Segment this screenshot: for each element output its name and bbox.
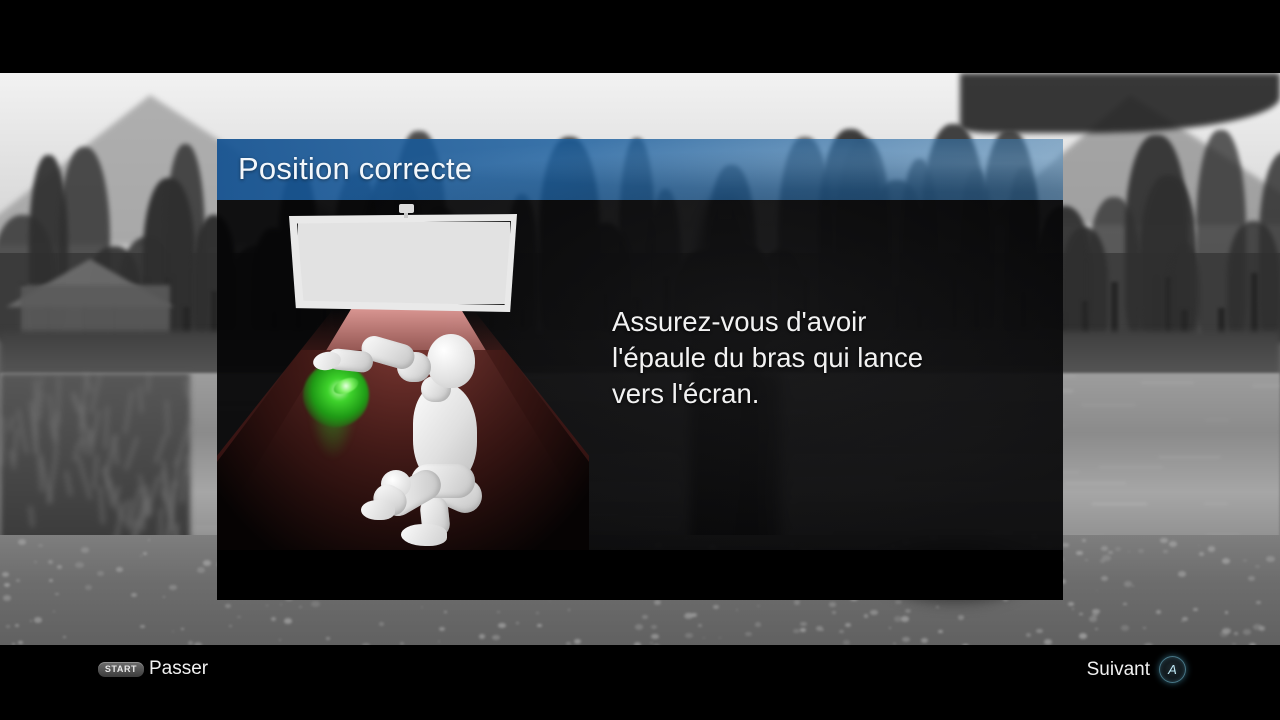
pebble xyxy=(905,609,911,613)
pebble xyxy=(516,622,519,624)
mannequin-figure xyxy=(335,328,495,543)
pebble xyxy=(181,628,183,630)
pebble xyxy=(1225,611,1228,613)
pebble xyxy=(938,630,943,633)
grass-blade xyxy=(124,391,134,434)
pebble xyxy=(1115,547,1121,551)
pebble xyxy=(197,567,205,573)
letterbox-top xyxy=(0,0,1280,73)
pebble xyxy=(1026,633,1031,637)
skip-hint[interactable]: START Passer xyxy=(98,658,208,680)
pebble xyxy=(1193,608,1198,611)
pebble xyxy=(280,604,282,605)
pebble xyxy=(48,560,53,564)
pebble xyxy=(757,605,760,607)
pebble xyxy=(1079,613,1082,615)
grass-blade xyxy=(8,416,15,432)
pebble xyxy=(713,605,719,609)
mannequin-front-foot xyxy=(361,500,395,520)
pebble xyxy=(1143,627,1145,629)
pebble xyxy=(439,627,445,631)
pebble xyxy=(1243,629,1252,635)
pebble xyxy=(492,635,500,640)
pebble xyxy=(379,622,384,626)
mannequin-back-foot xyxy=(401,524,447,546)
pebble xyxy=(1036,629,1043,634)
pebble xyxy=(16,579,21,582)
pebble xyxy=(57,565,62,568)
pebble xyxy=(271,617,276,621)
pebble xyxy=(719,637,722,639)
pebble xyxy=(266,605,268,606)
pebble xyxy=(143,552,146,554)
pebble xyxy=(1156,610,1161,614)
pebble xyxy=(703,637,705,639)
pebble xyxy=(651,634,659,639)
pebble xyxy=(75,562,84,568)
pebble xyxy=(1095,628,1098,630)
grass-blade xyxy=(146,374,151,393)
a-button-icon: A xyxy=(1159,656,1186,683)
pebble xyxy=(901,616,910,622)
water-ripple xyxy=(1141,382,1194,384)
pebble xyxy=(140,555,142,557)
pebble xyxy=(1101,546,1108,551)
kinect-sensor-icon xyxy=(399,204,414,213)
dialog-body: Assurez-vous d'avoir l'épaule du bras qu… xyxy=(217,200,1063,600)
pebble xyxy=(479,634,485,638)
pebble xyxy=(684,613,692,619)
pebble xyxy=(1222,628,1231,634)
footer-hint-bar: START Passer Suivant A xyxy=(0,645,1280,720)
grass-blade xyxy=(185,454,188,474)
pebble xyxy=(829,602,836,607)
pebble xyxy=(34,561,37,563)
pebble xyxy=(497,611,499,613)
pebble xyxy=(148,539,151,541)
pebble xyxy=(889,627,891,629)
pebble xyxy=(1199,552,1204,555)
pebble xyxy=(1243,559,1247,562)
pebble xyxy=(279,639,282,641)
pebble xyxy=(299,606,302,608)
pebble xyxy=(793,629,800,634)
pebble xyxy=(654,600,661,605)
pebble xyxy=(1266,556,1275,562)
next-hint[interactable]: Suivant A xyxy=(1087,656,1186,683)
grass-blade xyxy=(65,471,72,496)
pebble xyxy=(1198,545,1200,547)
pebble xyxy=(1068,602,1073,606)
pebble xyxy=(537,624,541,627)
pebble xyxy=(1222,558,1230,564)
next-label: Suivant xyxy=(1087,659,1150,681)
pebble xyxy=(18,539,26,545)
grass-blade xyxy=(83,438,87,454)
water-ripple xyxy=(1065,482,1126,484)
tree xyxy=(1259,152,1280,343)
pebble xyxy=(832,611,836,614)
pebble xyxy=(685,633,693,638)
pebble xyxy=(642,615,648,620)
pebble xyxy=(1076,551,1082,556)
pebble xyxy=(53,611,55,612)
water-ripple xyxy=(1252,385,1280,387)
pebble xyxy=(1182,617,1188,621)
grass-blade xyxy=(57,377,60,425)
pebble xyxy=(902,637,910,642)
pebble xyxy=(1108,551,1113,554)
grass-blade xyxy=(174,420,191,467)
pebble xyxy=(3,595,11,601)
pebble xyxy=(81,547,89,553)
pebble xyxy=(311,601,319,607)
instruction-line-2: l'épaule du bras qui lance xyxy=(612,340,1032,376)
pebble xyxy=(498,623,506,629)
water-ripple xyxy=(1204,503,1228,505)
pebble xyxy=(1248,576,1255,581)
pebble xyxy=(794,600,801,605)
pebble xyxy=(30,620,33,622)
pebble xyxy=(34,617,42,623)
tv-screen xyxy=(297,221,511,305)
pebble xyxy=(85,585,92,590)
pebble xyxy=(1163,550,1168,554)
instruction-line-1: Assurez-vous d'avoir xyxy=(612,304,1032,340)
mannequin-head xyxy=(427,334,475,388)
pebble xyxy=(140,625,145,628)
pebble xyxy=(438,641,440,642)
pebble xyxy=(936,606,939,608)
pebble xyxy=(237,616,241,619)
pebble xyxy=(745,632,752,637)
pebble xyxy=(1044,639,1052,645)
pebble xyxy=(736,609,738,611)
pebble xyxy=(1096,590,1098,592)
grass-blade xyxy=(77,456,92,500)
tutorial-dialog: Position correcte xyxy=(217,139,1063,600)
pebble xyxy=(845,623,851,627)
pebble xyxy=(1124,581,1132,586)
grass-blade xyxy=(48,452,59,504)
pebble xyxy=(800,622,806,626)
pebble xyxy=(1178,571,1186,577)
pebble xyxy=(1072,608,1074,610)
pebble xyxy=(821,629,824,631)
pebble xyxy=(755,622,761,626)
pebble xyxy=(1121,625,1129,631)
grass-blade xyxy=(166,400,170,436)
grass-blade xyxy=(138,386,143,413)
water-ripple xyxy=(1159,456,1220,458)
pebble xyxy=(1089,616,1097,622)
water-ripple xyxy=(1092,503,1148,505)
page-title: Position correcte xyxy=(238,151,472,187)
pebble xyxy=(1100,559,1105,563)
pebble xyxy=(1101,576,1108,581)
pebble xyxy=(444,611,447,613)
pebble xyxy=(698,624,702,627)
pebble xyxy=(895,600,901,605)
pebble xyxy=(651,625,657,629)
pebble xyxy=(635,624,643,630)
pebble xyxy=(131,593,137,597)
pebble xyxy=(49,579,53,582)
grass-blade xyxy=(115,486,121,501)
pebble xyxy=(800,628,805,632)
pebble xyxy=(1082,539,1087,542)
grass-blade xyxy=(184,378,189,397)
pebble xyxy=(1169,541,1177,547)
dialog-title-bar: Position correcte xyxy=(217,139,1063,200)
pebble xyxy=(1160,538,1168,543)
game-screen: Position correcte xyxy=(0,0,1280,720)
pebble xyxy=(1208,546,1216,551)
pebble xyxy=(2,572,9,577)
pebble xyxy=(1256,601,1261,605)
pebble xyxy=(568,609,570,611)
pebble xyxy=(15,624,19,627)
pebble xyxy=(225,604,231,608)
pebble xyxy=(1234,632,1237,634)
pebble xyxy=(163,596,165,597)
pebble xyxy=(1085,559,1088,561)
pebble xyxy=(38,544,43,547)
pebble xyxy=(326,637,330,640)
pebble xyxy=(229,625,232,627)
instruction-text: Assurez-vous d'avoir l'épaule du bras qu… xyxy=(612,304,1032,412)
pebble xyxy=(549,600,551,602)
grass-blade xyxy=(124,437,139,471)
pebble xyxy=(18,641,23,645)
pebble xyxy=(284,618,292,624)
grass-blade xyxy=(0,417,5,466)
pebble xyxy=(6,625,10,628)
grass-blade xyxy=(181,470,187,503)
pebble xyxy=(116,567,122,572)
grass-blade xyxy=(29,506,34,528)
pebble xyxy=(421,607,424,609)
pebble xyxy=(1132,585,1135,587)
pebble xyxy=(574,639,581,644)
pebble xyxy=(650,642,653,644)
dialog-footer-strip xyxy=(217,550,1063,600)
pebble xyxy=(169,585,177,591)
pebble xyxy=(870,610,877,615)
grass-blade xyxy=(104,406,109,449)
water-ripple xyxy=(1205,419,1229,421)
pebble xyxy=(1123,603,1127,606)
water-ripple xyxy=(1081,404,1136,406)
pebble xyxy=(172,631,174,632)
pebble xyxy=(958,615,965,620)
pebble xyxy=(55,593,59,596)
start-button-badge: START xyxy=(98,662,144,677)
instruction-line-3: vers l'écran. xyxy=(612,376,1032,412)
pebble xyxy=(1092,613,1097,617)
pebble xyxy=(4,583,10,587)
pebble xyxy=(921,638,928,643)
grass-blade xyxy=(99,486,105,524)
grass-left xyxy=(0,373,190,548)
pebble xyxy=(203,560,212,566)
pebble xyxy=(536,612,539,614)
positioning-diagram xyxy=(217,200,589,552)
skip-label: Passer xyxy=(149,658,208,680)
pebble xyxy=(1128,551,1130,552)
pebble xyxy=(63,636,67,639)
pebble xyxy=(839,630,844,634)
pebble xyxy=(97,571,104,576)
pebble xyxy=(864,614,869,617)
grass-blade xyxy=(90,375,102,414)
grass-blade xyxy=(92,454,98,488)
water-ripple xyxy=(1099,466,1163,468)
pebble xyxy=(1138,549,1144,553)
pebble xyxy=(1259,626,1265,631)
pebble xyxy=(1255,565,1260,568)
pebble xyxy=(1079,633,1088,639)
pebble xyxy=(1062,543,1069,548)
